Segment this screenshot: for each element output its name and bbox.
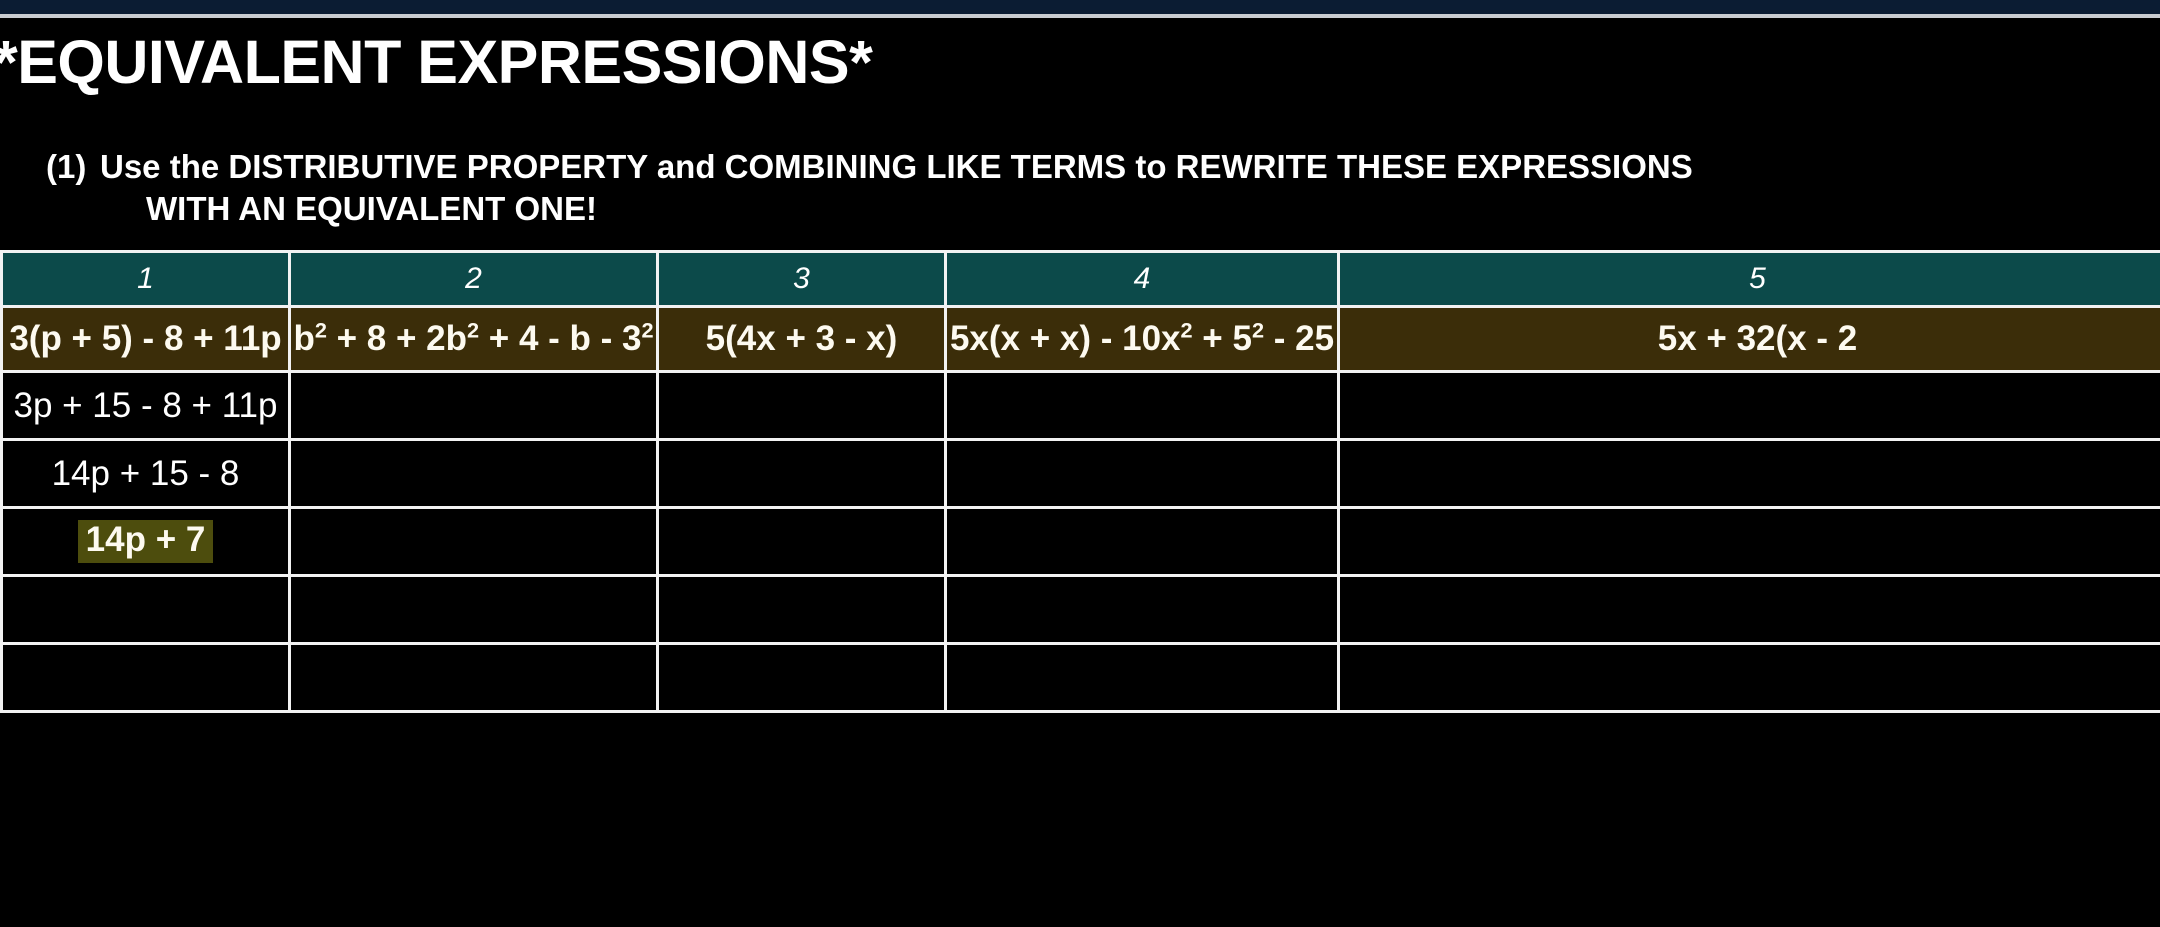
window-top-bar	[0, 0, 2160, 14]
work-cell[interactable]: 3p + 15 - 8 + 11p	[2, 372, 290, 440]
table-header-row: 1 2 3 4 5	[2, 252, 2160, 307]
work-cell[interactable]	[658, 644, 946, 712]
work-cell[interactable]	[290, 644, 658, 712]
expression-cell-3: 5(4x + 3 - x)	[658, 307, 946, 372]
page-title: *EQUIVALENT EXPRESSIONS*	[0, 30, 872, 94]
work-cell[interactable]: 14p + 15 - 8	[2, 440, 290, 508]
expression-text: + 5	[1193, 319, 1252, 358]
table-row: 14p + 7	[2, 508, 2160, 576]
expression-text: 5x + 32(x - 2	[1658, 319, 1857, 358]
expression-text: 3(p + 5) - 8 + 11p	[9, 319, 281, 358]
column-header-4: 4	[946, 252, 1339, 307]
expression-row: 3(p + 5) - 8 + 11p b2 + 8 + 2b2 + 4 - b …	[2, 307, 2160, 372]
expression-cell-1: 3(p + 5) - 8 + 11p	[2, 307, 290, 372]
work-cell[interactable]	[1339, 576, 2160, 644]
slide-canvas: *EQUIVALENT EXPRESSIONS* (1) Use the DIS…	[0, 18, 2160, 927]
work-cell[interactable]	[290, 440, 658, 508]
expression-cell-5: 5x + 32(x - 2	[1339, 307, 2160, 372]
expression-text: b	[293, 319, 314, 358]
work-cell[interactable]	[946, 644, 1339, 712]
work-cell[interactable]	[1339, 508, 2160, 576]
exponent: 2	[1181, 317, 1193, 342]
work-cell[interactable]	[946, 576, 1339, 644]
work-cell[interactable]	[1339, 372, 2160, 440]
work-cell[interactable]	[1339, 440, 2160, 508]
table-row	[2, 576, 2160, 644]
expression-text: + 4 - b - 3	[479, 319, 641, 358]
work-cell[interactable]	[658, 576, 946, 644]
exponent: 2	[641, 317, 653, 342]
instruction-1-continuation: WITH AN EQUIVALENT ONE!	[0, 188, 2160, 230]
equivalent-expressions-table: 1 2 3 4 5 3(p + 5) - 8 + 11p b2 + 8 + 2b…	[0, 250, 2160, 713]
expression-cell-4: 5x(x + x) - 10x2 + 52 - 25	[946, 307, 1339, 372]
work-cell[interactable]	[946, 440, 1339, 508]
column-header-5: 5	[1339, 252, 2160, 307]
work-cell[interactable]	[658, 508, 946, 576]
work-cell[interactable]	[290, 576, 658, 644]
table-body: 1 2 3 4 5 3(p + 5) - 8 + 11p b2 + 8 + 2b…	[2, 252, 2160, 712]
table-row: 3p + 15 - 8 + 11p	[2, 372, 2160, 440]
expression-text: 5(4x + 3 - x)	[706, 319, 898, 358]
table-row: 14p + 15 - 8	[2, 440, 2160, 508]
instruction-1-text: Use the DISTRIBUTIVE PROPERTY and COMBIN…	[68, 146, 2160, 188]
expression-text: - 25	[1264, 319, 1334, 358]
exponent: 2	[467, 317, 479, 342]
highlighted-answer: 14p + 7	[78, 520, 214, 563]
exponent: 2	[1252, 317, 1264, 342]
work-cell[interactable]	[946, 372, 1339, 440]
table-row	[2, 644, 2160, 712]
column-header-1: 1	[2, 252, 290, 307]
instruction-1-number: (1)	[0, 146, 68, 188]
work-cell[interactable]	[290, 372, 658, 440]
column-header-3: 3	[658, 252, 946, 307]
column-header-2: 2	[290, 252, 658, 307]
work-cell[interactable]	[946, 508, 1339, 576]
work-cell[interactable]	[1339, 644, 2160, 712]
instruction-item-1: (1) Use the DISTRIBUTIVE PROPERTY and CO…	[0, 146, 2160, 188]
work-cell[interactable]	[658, 440, 946, 508]
expression-cell-2: b2 + 8 + 2b2 + 4 - b - 32	[290, 307, 658, 372]
work-cell[interactable]	[2, 576, 290, 644]
work-cell[interactable]	[658, 372, 946, 440]
expression-text: 5x(x + x) - 10x	[950, 319, 1181, 358]
work-cell[interactable]	[2, 644, 290, 712]
exponent: 2	[315, 317, 327, 342]
expression-text: + 8 + 2b	[327, 319, 467, 358]
work-cell[interactable]: 14p + 7	[2, 508, 290, 576]
work-cell[interactable]	[290, 508, 658, 576]
